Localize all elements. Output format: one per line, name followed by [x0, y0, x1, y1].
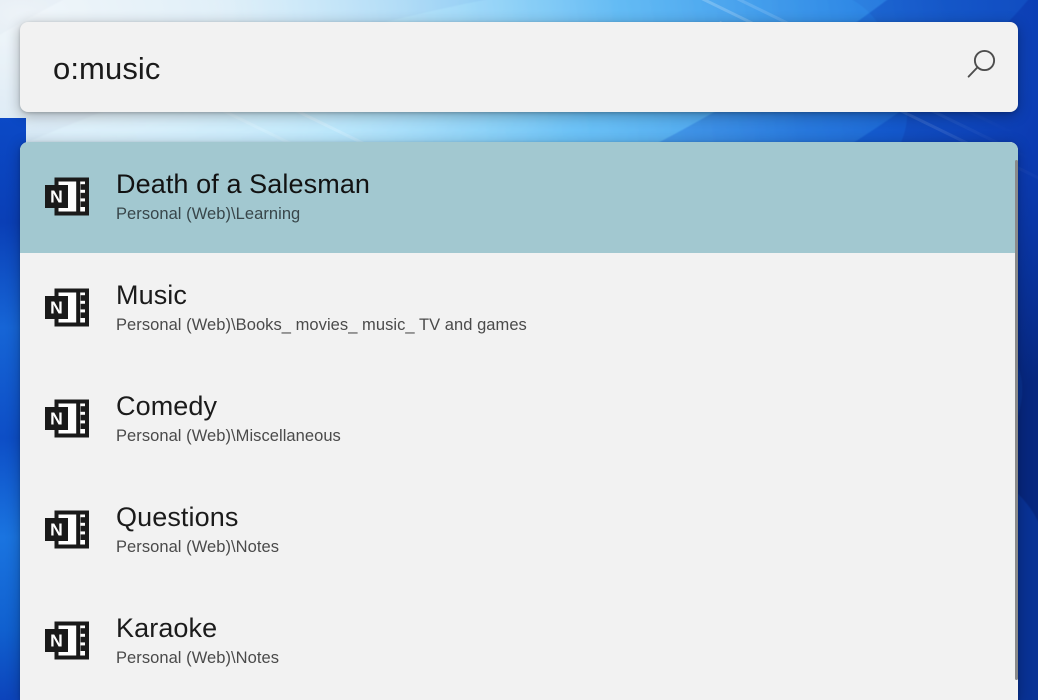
results-list: N Death of a Salesman Personal (Web)\Lea… — [20, 142, 1018, 700]
scrollbar-thumb[interactable] — [1015, 160, 1018, 680]
list-item[interactable]: N Karaoke Personal (Web)\Notes — [20, 586, 1018, 697]
svg-text:N: N — [50, 519, 63, 539]
svg-text:N: N — [50, 297, 63, 317]
list-item-subtitle: Personal (Web)\Miscellaneous — [116, 426, 1018, 447]
list-item-title: Music — [116, 280, 1018, 310]
list-item-text: Music Personal (Web)\Books_ movies_ musi… — [116, 280, 1018, 337]
list-item[interactable]: N Questions Personal (Web)\Notes — [20, 475, 1018, 586]
list-item[interactable]: N Music Personal (Web)\Books_ movies_ mu… — [20, 253, 1018, 364]
onenote-icon: N — [39, 170, 95, 226]
desktop-wallpaper: o:music — [0, 0, 1038, 700]
list-item[interactable]: N Death of a Salesman Personal (Web)\Lea… — [20, 142, 1018, 253]
list-item-subtitle: Personal (Web)\Notes — [116, 648, 1018, 669]
search-button[interactable] — [944, 22, 1018, 112]
list-item-title: Questions — [116, 502, 1018, 532]
onenote-icon: N — [39, 503, 95, 559]
search-icon — [961, 45, 1001, 90]
list-item-title: Comedy — [116, 391, 1018, 421]
list-item-text: Karaoke Personal (Web)\Notes — [116, 613, 1018, 670]
svg-text:N: N — [50, 186, 63, 206]
search-input[interactable]: o:music — [20, 53, 944, 84]
list-item-subtitle: Personal (Web)\Notes — [116, 537, 1018, 558]
scrollbar[interactable] — [1002, 142, 1018, 700]
onenote-icon: N — [39, 281, 95, 337]
list-item[interactable]: N Comedy Personal (Web)\Miscellaneous — [20, 364, 1018, 475]
results-panel: N Death of a Salesman Personal (Web)\Lea… — [20, 142, 1018, 700]
list-item-title: Karaoke — [116, 613, 1018, 643]
onenote-icon: N — [39, 614, 95, 670]
list-item-text: Comedy Personal (Web)\Miscellaneous — [116, 391, 1018, 448]
list-item-subtitle: Personal (Web)\Books_ movies_ music_ TV … — [116, 315, 1018, 336]
svg-text:N: N — [50, 630, 63, 650]
list-item-title: Death of a Salesman — [116, 169, 1018, 199]
search-bar[interactable]: o:music — [20, 22, 1018, 112]
svg-text:N: N — [50, 408, 63, 428]
list-item-subtitle: Personal (Web)\Learning — [116, 204, 1018, 225]
list-item-text: Questions Personal (Web)\Notes — [116, 502, 1018, 559]
onenote-icon: N — [39, 392, 95, 448]
list-item-text: Death of a Salesman Personal (Web)\Learn… — [116, 169, 1018, 226]
